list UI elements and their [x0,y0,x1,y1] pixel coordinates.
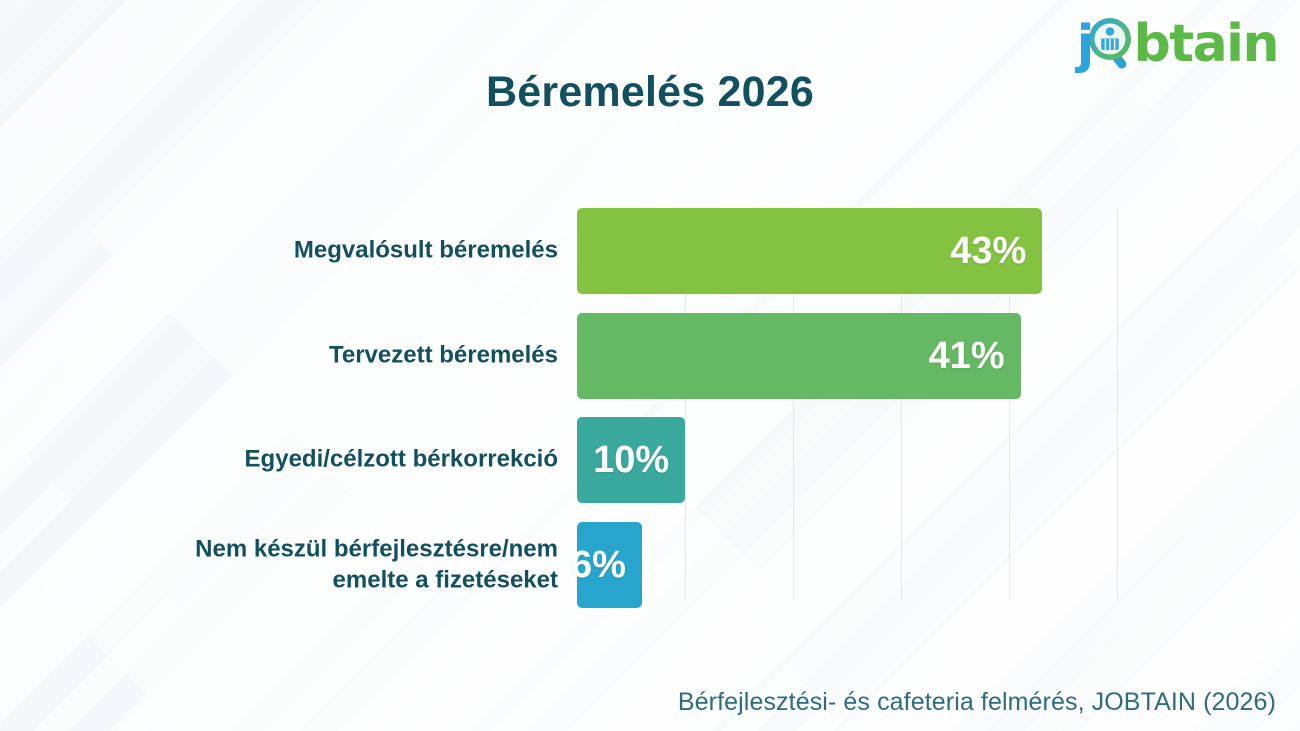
category-label: Megvalósult béremelés [138,236,558,267]
bar-segment[interactable]: 41% [577,313,1021,399]
bar-value-label: 10% [593,439,685,482]
bar-chart-plot-area: Megvalósult béremelés 43% Tervezett bére… [0,0,1300,731]
category-label: Tervezett béremelés [138,341,558,372]
bar-segment[interactable]: 43% [577,208,1042,294]
bar-row: Megvalósult béremelés 43% [0,208,1300,294]
bar-row: Nem készül bérfejlesztésre/nem emelte a … [0,522,1300,608]
bar-row: Tervezett béremelés 41% [0,313,1300,399]
bar-segment[interactable]: 10% [577,417,685,503]
slide-canvas: j [0,0,1300,731]
source-note: Bérfejlesztési- és cafeteria felmérés, J… [678,688,1276,717]
category-label: Egyedi/célzott bérkorrekció [138,445,558,476]
category-label: Nem készül bérfejlesztésre/nem emelte a … [138,534,558,595]
bar-value-label: 43% [950,230,1042,273]
bar-row: Egyedi/célzott bérkorrekció 10% [0,417,1300,503]
bar-value-label: 41% [929,335,1021,378]
bar-value-label: 6% [571,544,642,587]
bar-segment[interactable]: 6% [577,522,642,608]
